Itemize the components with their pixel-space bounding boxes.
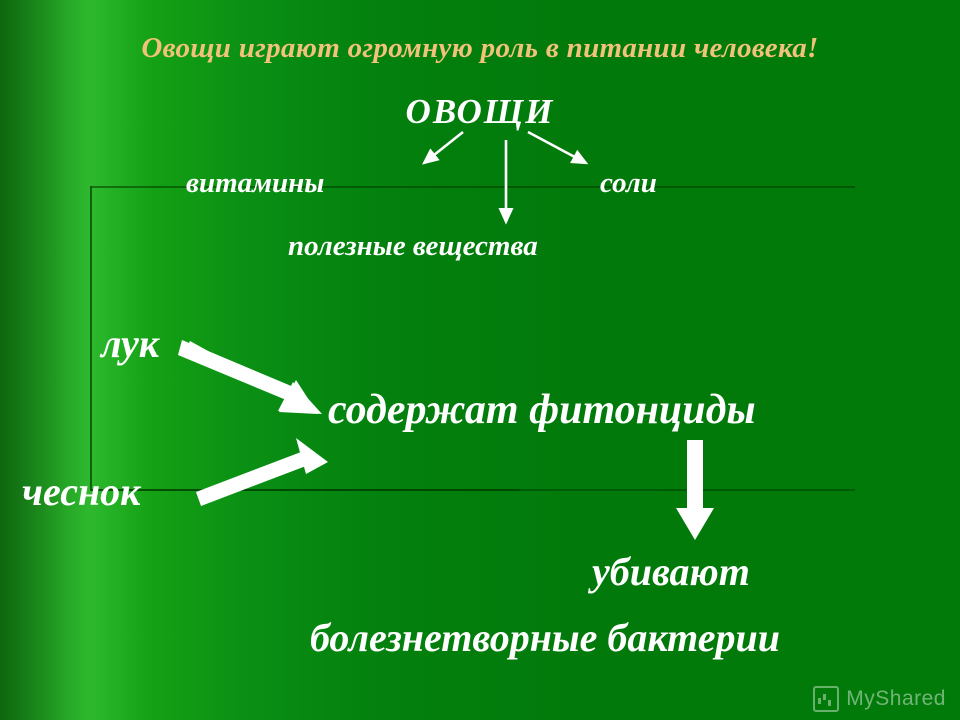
- node-salts: соли: [600, 167, 657, 200]
- watermark: MyShared: [813, 686, 946, 712]
- arrow-contain-to-kill: [676, 440, 714, 540]
- node-garlic: чеснок: [22, 468, 140, 515]
- arrow-root-to-salts: [528, 132, 586, 163]
- node-useful-substances: полезные вещества: [288, 230, 538, 263]
- node-pathogenic-bacteria: болезнетворные бактерии: [310, 614, 780, 661]
- slide-title: Овощи играют огромную роль в питании чел…: [0, 32, 960, 65]
- node-kill: убивают: [592, 548, 750, 595]
- myshared-logo-icon: [813, 686, 839, 712]
- node-contain-phytoncides: содержат фитонциды: [328, 386, 756, 434]
- arrow-root-to-vitamins: [424, 132, 463, 163]
- slide-canvas: Овощи играют огромную роль в питании чел…: [0, 0, 960, 720]
- arrow-onion-to-contain: [178, 340, 322, 414]
- watermark-label: MyShared: [846, 687, 946, 711]
- node-vitamins: витамины: [186, 167, 324, 200]
- node-onion: лук: [101, 320, 159, 367]
- arrow-garlic-to-contain: [196, 438, 328, 506]
- node-root-vegetables: ОВОЩИ: [0, 92, 960, 132]
